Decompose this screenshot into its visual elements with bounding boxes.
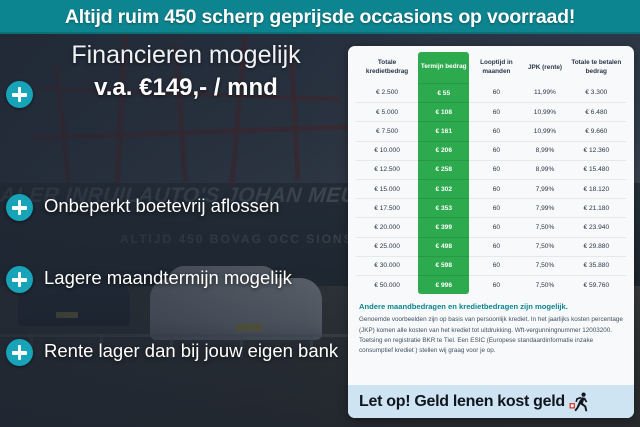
cell-jkp: 7,50% bbox=[523, 237, 566, 256]
cell-termijn: € 161 bbox=[418, 122, 469, 141]
cell-totaal: € 23.940 bbox=[567, 218, 626, 237]
table-row: € 50.000€ 996607,50%€ 59.760 bbox=[356, 275, 626, 294]
cell-looptijd: 60 bbox=[469, 160, 523, 179]
warning-text: Let op! Geld lenen kost geld bbox=[359, 393, 565, 411]
rate-card: Totale kredietbedrag Termijn bedrag Loop… bbox=[348, 46, 634, 418]
cell-jkp: 10,99% bbox=[523, 122, 566, 141]
feature-item-3: Rente lager dan bij jouw eigen bank bbox=[44, 340, 344, 361]
cell-looptijd: 60 bbox=[469, 103, 523, 122]
cell-totaal: € 35.880 bbox=[567, 256, 626, 275]
table-row: € 2.500€ 556011,99%€ 3.300 bbox=[356, 84, 626, 103]
cell-krediet: € 25.000 bbox=[356, 237, 418, 256]
cell-termijn: € 399 bbox=[418, 218, 469, 237]
cell-totaal: € 9.660 bbox=[567, 122, 626, 141]
cell-krediet: € 10.000 bbox=[356, 141, 418, 160]
table-row: € 20.000€ 399607,50%€ 23.940 bbox=[356, 218, 626, 237]
rate-table-wrapper: Totale kredietbedrag Termijn bedrag Loop… bbox=[348, 46, 634, 298]
header-krediet: Totale kredietbedrag bbox=[356, 52, 418, 84]
table-row: € 30.000€ 598607,50%€ 35.880 bbox=[356, 256, 626, 275]
cell-looptijd: 60 bbox=[469, 218, 523, 237]
header-jkp: JPK (rente) bbox=[523, 52, 566, 84]
header-looptijd: Looptijd in maanden bbox=[469, 52, 523, 84]
cell-jkp: 7,99% bbox=[523, 180, 566, 199]
plus-icon bbox=[6, 266, 33, 293]
rate-table-header-row: Totale kredietbedrag Termijn bedrag Loop… bbox=[356, 52, 626, 84]
cell-krediet: € 20.000 bbox=[356, 218, 418, 237]
cell-looptijd: 60 bbox=[469, 237, 523, 256]
cell-termijn: € 258 bbox=[418, 160, 469, 179]
table-row: € 5.000€ 1086010,99%€ 6.480 bbox=[356, 103, 626, 122]
cell-termijn: € 206 bbox=[418, 141, 469, 160]
cell-jkp: 11,99% bbox=[523, 84, 566, 103]
cell-termijn: € 55 bbox=[418, 84, 469, 103]
cell-jkp: 8,99% bbox=[523, 160, 566, 179]
headline-banner: Altijd ruim 450 scherp geprijsde occasio… bbox=[0, 0, 640, 34]
cell-krediet: € 2.500 bbox=[356, 84, 418, 103]
running-man-icon bbox=[569, 391, 591, 413]
feature-list: Financieren mogelijk v.a. €149,- / mnd O… bbox=[0, 34, 350, 427]
cell-krediet: € 5.000 bbox=[356, 103, 418, 122]
cell-krediet: € 50.000 bbox=[356, 275, 418, 294]
cell-totaal: € 12.360 bbox=[567, 141, 626, 160]
cell-looptijd: 60 bbox=[469, 141, 523, 160]
cell-jkp: 10,99% bbox=[523, 103, 566, 122]
cell-termijn: € 598 bbox=[418, 256, 469, 275]
table-row: € 15.000€ 302607,99%€ 18.120 bbox=[356, 180, 626, 199]
table-row: € 12.500€ 258608,99%€ 15.480 bbox=[356, 160, 626, 179]
cell-termijn: € 353 bbox=[418, 199, 469, 218]
cell-krediet: € 15.000 bbox=[356, 180, 418, 199]
promo-banner: ALER INRUILAUTO'S JOHAN MEURE ALTIJD 450… bbox=[0, 0, 640, 427]
cell-totaal: € 18.120 bbox=[567, 180, 626, 199]
cell-looptijd: 60 bbox=[469, 122, 523, 141]
card-note: Andere maandbedragen en kredietbedragen … bbox=[348, 298, 634, 356]
cell-jkp: 8,99% bbox=[523, 141, 566, 160]
cell-krediet: € 12.500 bbox=[356, 160, 418, 179]
cell-termijn: € 302 bbox=[418, 180, 469, 199]
table-row: € 7.500€ 1616010,99%€ 9.660 bbox=[356, 122, 626, 141]
financing-heading: Financieren mogelijk v.a. €149,- / mnd bbox=[28, 42, 344, 102]
rate-table-body: € 2.500€ 556011,99%€ 3.300€ 5.000€ 10860… bbox=[356, 84, 626, 295]
rate-table-head: Totale kredietbedrag Termijn bedrag Loop… bbox=[356, 52, 626, 84]
header-totaal: Totale te betalen bedrag bbox=[567, 52, 626, 84]
cell-looptijd: 60 bbox=[469, 256, 523, 275]
cell-jkp: 7,99% bbox=[523, 199, 566, 218]
cell-looptijd: 60 bbox=[469, 180, 523, 199]
header-termijn: Termijn bedrag bbox=[418, 52, 469, 84]
headline-text: Altijd ruim 450 scherp geprijsde occasio… bbox=[65, 6, 575, 29]
note-body: Genoemde voorbeelden zijn op basis van p… bbox=[359, 315, 623, 356]
table-row: € 17.500€ 353607,99%€ 21.180 bbox=[356, 199, 626, 218]
table-row: € 10.000€ 206608,99%€ 12.360 bbox=[356, 141, 626, 160]
cell-looptijd: 60 bbox=[469, 199, 523, 218]
cell-looptijd: 60 bbox=[469, 84, 523, 103]
cell-totaal: € 21.180 bbox=[567, 199, 626, 218]
financing-heading-line2: v.a. €149,- / mnd bbox=[28, 74, 344, 102]
cell-termijn: € 498 bbox=[418, 237, 469, 256]
feature-item-1: Onbeperkt boetevrij aflossen bbox=[44, 195, 344, 216]
cell-krediet: € 7.500 bbox=[356, 122, 418, 141]
cell-totaal: € 15.480 bbox=[567, 160, 626, 179]
cell-looptijd: 60 bbox=[469, 275, 523, 294]
cell-jkp: 7,50% bbox=[523, 218, 566, 237]
cell-totaal: € 59.760 bbox=[567, 275, 626, 294]
feature-item-2: Lagere maandtermijn mogelijk bbox=[44, 267, 344, 288]
cell-termijn: € 996 bbox=[418, 275, 469, 294]
plus-icon bbox=[6, 339, 33, 366]
note-title: Andere maandbedragen en kredietbedragen … bbox=[359, 302, 623, 312]
cell-jkp: 7,50% bbox=[523, 275, 566, 294]
cell-krediet: € 17.500 bbox=[356, 199, 418, 218]
table-row: € 25.000€ 498607,50%€ 29.880 bbox=[356, 237, 626, 256]
cell-totaal: € 3.300 bbox=[567, 84, 626, 103]
cell-jkp: 7,50% bbox=[523, 256, 566, 275]
warning-bar: Let op! Geld lenen kost geld bbox=[348, 385, 634, 418]
cell-termijn: € 108 bbox=[418, 103, 469, 122]
cell-krediet: € 30.000 bbox=[356, 256, 418, 275]
financing-heading-line1: Financieren mogelijk bbox=[28, 42, 344, 70]
plus-icon bbox=[6, 194, 33, 221]
cell-totaal: € 29.880 bbox=[567, 237, 626, 256]
cell-totaal: € 6.480 bbox=[567, 103, 626, 122]
rate-table: Totale kredietbedrag Termijn bedrag Loop… bbox=[356, 52, 626, 294]
